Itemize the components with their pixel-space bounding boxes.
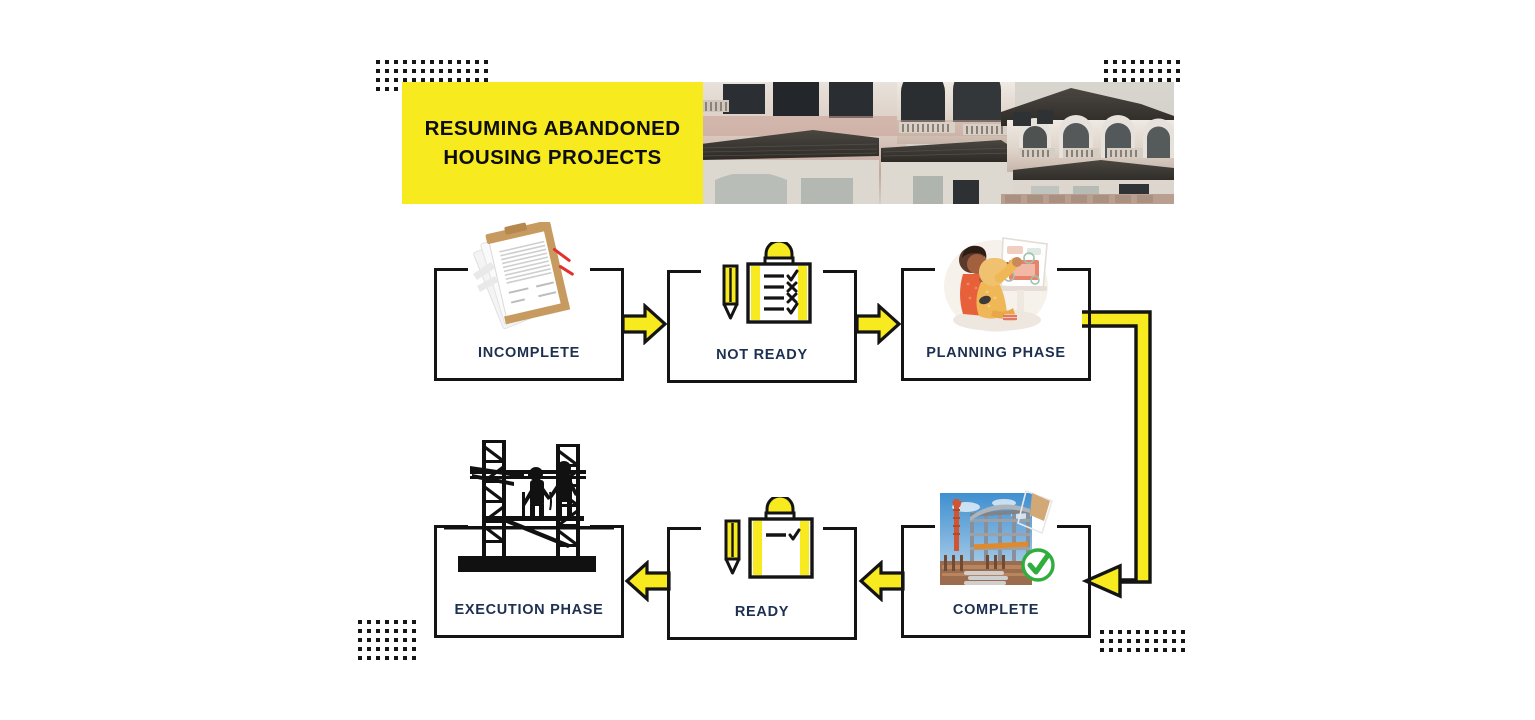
decorative-dot [1176, 60, 1180, 64]
decorative-dot [367, 629, 371, 633]
decorative-dot [1127, 630, 1131, 634]
decorative-dot [385, 87, 389, 91]
decorative-dot [1176, 69, 1180, 73]
decorative-dot [385, 647, 389, 651]
decorative-dot [358, 638, 362, 642]
decorative-dot [394, 60, 398, 64]
flow-node-not-ready[interactable]: NOT READY [667, 270, 857, 383]
decorative-dot [1131, 60, 1135, 64]
decorative-dot [1154, 630, 1158, 634]
decorative-dot [1172, 630, 1176, 634]
decorative-dot [367, 638, 371, 642]
decorative-dot [1176, 78, 1180, 82]
decorative-dot [358, 620, 362, 624]
decorative-dot [1149, 60, 1153, 64]
decorative-dot [1100, 639, 1104, 643]
decorative-dot [1122, 60, 1126, 64]
decorative-dot [457, 60, 461, 64]
decorative-dot [421, 69, 425, 73]
decorative-dot [421, 60, 425, 64]
decorative-dot [385, 656, 389, 660]
flow-node-label: PLANNING PHASE [901, 345, 1091, 361]
decorative-dot [358, 647, 362, 651]
node-frame [434, 525, 624, 638]
decorative-dot [394, 87, 398, 91]
decorative-dot [1145, 639, 1149, 643]
decorative-dot [376, 78, 380, 82]
decorative-dot [448, 60, 452, 64]
decorative-dot [394, 638, 398, 642]
flow-node-ready[interactable]: READY [667, 527, 857, 640]
decorative-dot [466, 69, 470, 73]
decorative-dot [1113, 69, 1117, 73]
decorative-dot [385, 60, 389, 64]
decorative-dot [376, 629, 380, 633]
decorative-dot [376, 656, 380, 660]
decorative-dot [376, 647, 380, 651]
decorative-dot [412, 620, 416, 624]
decorative-dot [1100, 648, 1104, 652]
decorative-dot [394, 629, 398, 633]
decorative-dot [1181, 648, 1185, 652]
decorative-dot [412, 629, 416, 633]
node-frame [901, 268, 1091, 381]
decorative-dot [1127, 639, 1131, 643]
decorative-dot [394, 647, 398, 651]
decorative-dot [403, 629, 407, 633]
decorative-dot [457, 69, 461, 73]
connector-ready-to-execution [623, 560, 671, 602]
header-title-banner: RESUMING ABANDONED HOUSING PROJECTS [402, 82, 703, 204]
decorative-dot [1109, 648, 1113, 652]
connector-planning-to-complete [1082, 310, 1176, 602]
decorative-dot [1104, 60, 1108, 64]
decorative-dot [1158, 69, 1162, 73]
decorative-dot [385, 620, 389, 624]
decorative-dot [1100, 630, 1104, 634]
decorative-dot [1145, 630, 1149, 634]
decorative-dot [1118, 630, 1122, 634]
flow-node-label: INCOMPLETE [434, 345, 624, 361]
decorative-dot [367, 656, 371, 660]
node-frame [901, 525, 1091, 638]
decorative-dot [358, 656, 362, 660]
decorative-dot [394, 656, 398, 660]
decorative-dot [385, 629, 389, 633]
decorative-dot [394, 78, 398, 82]
decorative-dot [394, 69, 398, 73]
decorative-dot [1140, 60, 1144, 64]
flow-node-incomplete[interactable]: INCOMPLETE [434, 268, 624, 381]
decorative-dot [1154, 639, 1158, 643]
node-frame [667, 527, 857, 640]
decorative-dot [376, 87, 380, 91]
flow-node-label: EXECUTION PHASE [434, 602, 624, 618]
header-banner: RESUMING ABANDONED HOUSING PROJECTS [402, 82, 1174, 204]
decorative-dot [430, 60, 434, 64]
flow-node-label: READY [667, 604, 857, 620]
decorative-dot [376, 60, 380, 64]
decorative-dot [367, 620, 371, 624]
decorative-dot [1172, 648, 1176, 652]
decorative-dot [1145, 648, 1149, 652]
decorative-dot [1131, 69, 1135, 73]
decorative-dot [430, 69, 434, 73]
decorative-dot [376, 620, 380, 624]
decorative-dot [403, 647, 407, 651]
decorative-dot [367, 647, 371, 651]
flow-node-planning-phase[interactable]: PLANNING PHASE [901, 268, 1091, 381]
decorative-dot [1136, 639, 1140, 643]
decorative-dot [1163, 639, 1167, 643]
decorative-dot [466, 60, 470, 64]
decorative-dot [1163, 648, 1167, 652]
decorative-dot [1136, 648, 1140, 652]
decorative-dot [385, 69, 389, 73]
connector-not-ready-to-planning [855, 303, 901, 345]
decorative-dot [358, 629, 362, 633]
flow-node-label: NOT READY [667, 347, 857, 363]
decorative-dot [1127, 648, 1131, 652]
connector-incomplete-to-not-ready [621, 303, 667, 345]
decorative-dot [1158, 60, 1162, 64]
decorative-dot [1118, 648, 1122, 652]
decorative-dot [412, 69, 416, 73]
abandoned-housing-photo [701, 82, 1174, 204]
decorative-dot [1154, 648, 1158, 652]
infographic-canvas: RESUMING ABANDONED HOUSING PROJECTS [0, 0, 1535, 720]
decorative-dot [439, 60, 443, 64]
decorative-dot [385, 638, 389, 642]
decorative-dot [412, 656, 416, 660]
decorative-dot [1140, 69, 1144, 73]
decorative-dot [412, 647, 416, 651]
decorative-dot [475, 60, 479, 64]
decorative-dot [439, 69, 443, 73]
node-frame [434, 268, 624, 381]
decorative-dot [1118, 639, 1122, 643]
flow-node-execution-phase[interactable]: EXECUTION PHASE [434, 525, 624, 638]
decorative-dot [1109, 639, 1113, 643]
decorative-dot [412, 60, 416, 64]
decorative-dot [394, 620, 398, 624]
page-title-line-2: HOUSING PROJECTS [418, 143, 688, 172]
decorative-dot [385, 78, 389, 82]
decorative-dot [1181, 630, 1185, 634]
decorative-dot [376, 638, 380, 642]
decorative-dot [1109, 630, 1113, 634]
decorative-dot [1167, 69, 1171, 73]
decorative-dot [412, 638, 416, 642]
flow-node-label: COMPLETE [901, 602, 1091, 618]
decorative-dot [1136, 630, 1140, 634]
decorative-dot [1172, 639, 1176, 643]
decorative-dot [376, 69, 380, 73]
decorative-dot [403, 69, 407, 73]
decorative-dot [1181, 639, 1185, 643]
decorative-dot [1122, 69, 1126, 73]
decorative-dot [484, 60, 488, 64]
decorative-dot [484, 69, 488, 73]
page-title-line-1: RESUMING ABANDONED [418, 114, 688, 143]
page-title: RESUMING ABANDONED HOUSING PROJECTS [418, 114, 688, 172]
decorative-dot [448, 69, 452, 73]
decorative-dot [1167, 60, 1171, 64]
flow-node-complete[interactable]: COMPLETE [901, 525, 1091, 638]
decorative-dot [1149, 69, 1153, 73]
node-frame [667, 270, 857, 383]
decorative-dot [1163, 630, 1167, 634]
decorative-dot [403, 656, 407, 660]
decorative-dot [1113, 60, 1117, 64]
decorative-dot [403, 620, 407, 624]
decorative-dot [475, 69, 479, 73]
decorative-dot [1104, 69, 1108, 73]
decorative-dot [403, 60, 407, 64]
decorative-dot [403, 638, 407, 642]
connector-complete-to-ready [857, 560, 905, 602]
